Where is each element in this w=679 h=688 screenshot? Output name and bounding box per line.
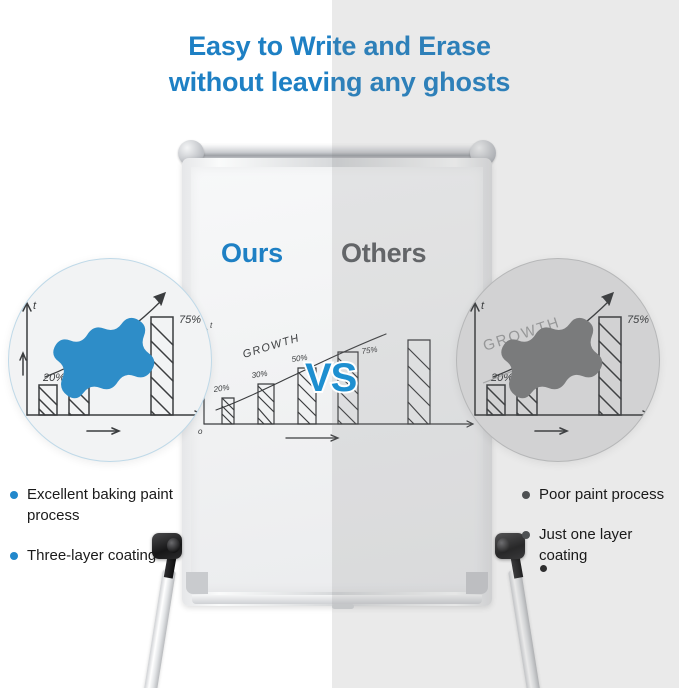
- feature-list-ours: Excellent baking paint process Three-lay…: [8, 484, 180, 585]
- bullet-dot-icon: [10, 552, 18, 560]
- page-title: Easy to Write and Erase without leaving …: [0, 28, 679, 100]
- list-item-label: Poor paint process: [539, 486, 664, 503]
- eraser-blue: [47, 311, 167, 401]
- svg-text:o: o: [195, 422, 201, 434]
- svg-text:t: t: [33, 300, 37, 312]
- list-item-label: Three-layer coating: [27, 547, 156, 564]
- list-item: Excellent baking paint process: [8, 484, 180, 526]
- vs-badge: VS: [305, 358, 356, 398]
- eraser-gray: [495, 311, 615, 401]
- marker-tray: [192, 595, 482, 604]
- tripod-leg-right: [508, 569, 542, 688]
- frame-corner-bottom-left: [186, 572, 208, 594]
- promo-image: Easy to Write and Erase without leaving …: [0, 0, 679, 688]
- label-ours: Ours: [221, 238, 283, 269]
- feature-list-others: Poor paint process Just one layer coatin…: [520, 484, 679, 585]
- headline-line-2: without leaving any ghosts: [0, 64, 679, 100]
- svg-text:t: t: [481, 300, 485, 312]
- bullet-dot-icon: [522, 491, 530, 499]
- label-others: Others: [341, 238, 426, 269]
- list-item-label: Excellent baking paint process: [27, 486, 173, 524]
- list-item: Just one layer coating: [520, 524, 679, 566]
- bullet-dot-icon: [10, 491, 18, 499]
- frame-corner-bottom-right: [466, 572, 488, 594]
- magnifier-ours: 20% 75% t o: [8, 258, 212, 462]
- marker-tray-nub: [332, 604, 354, 609]
- tripod-leg-left: [142, 569, 176, 688]
- bullet-dot-icon: [522, 531, 530, 539]
- list-item: Poor paint process: [520, 484, 679, 505]
- headline-line-1: Easy to Write and Erase: [188, 31, 491, 61]
- svg-text:75%: 75%: [627, 314, 649, 326]
- list-item: Three-layer coating: [8, 545, 180, 566]
- list-item-label: Just one layer coating: [539, 526, 632, 564]
- svg-text:75%: 75%: [179, 314, 201, 326]
- magnifier-others: 20% 75% t GROWTH: [456, 258, 660, 462]
